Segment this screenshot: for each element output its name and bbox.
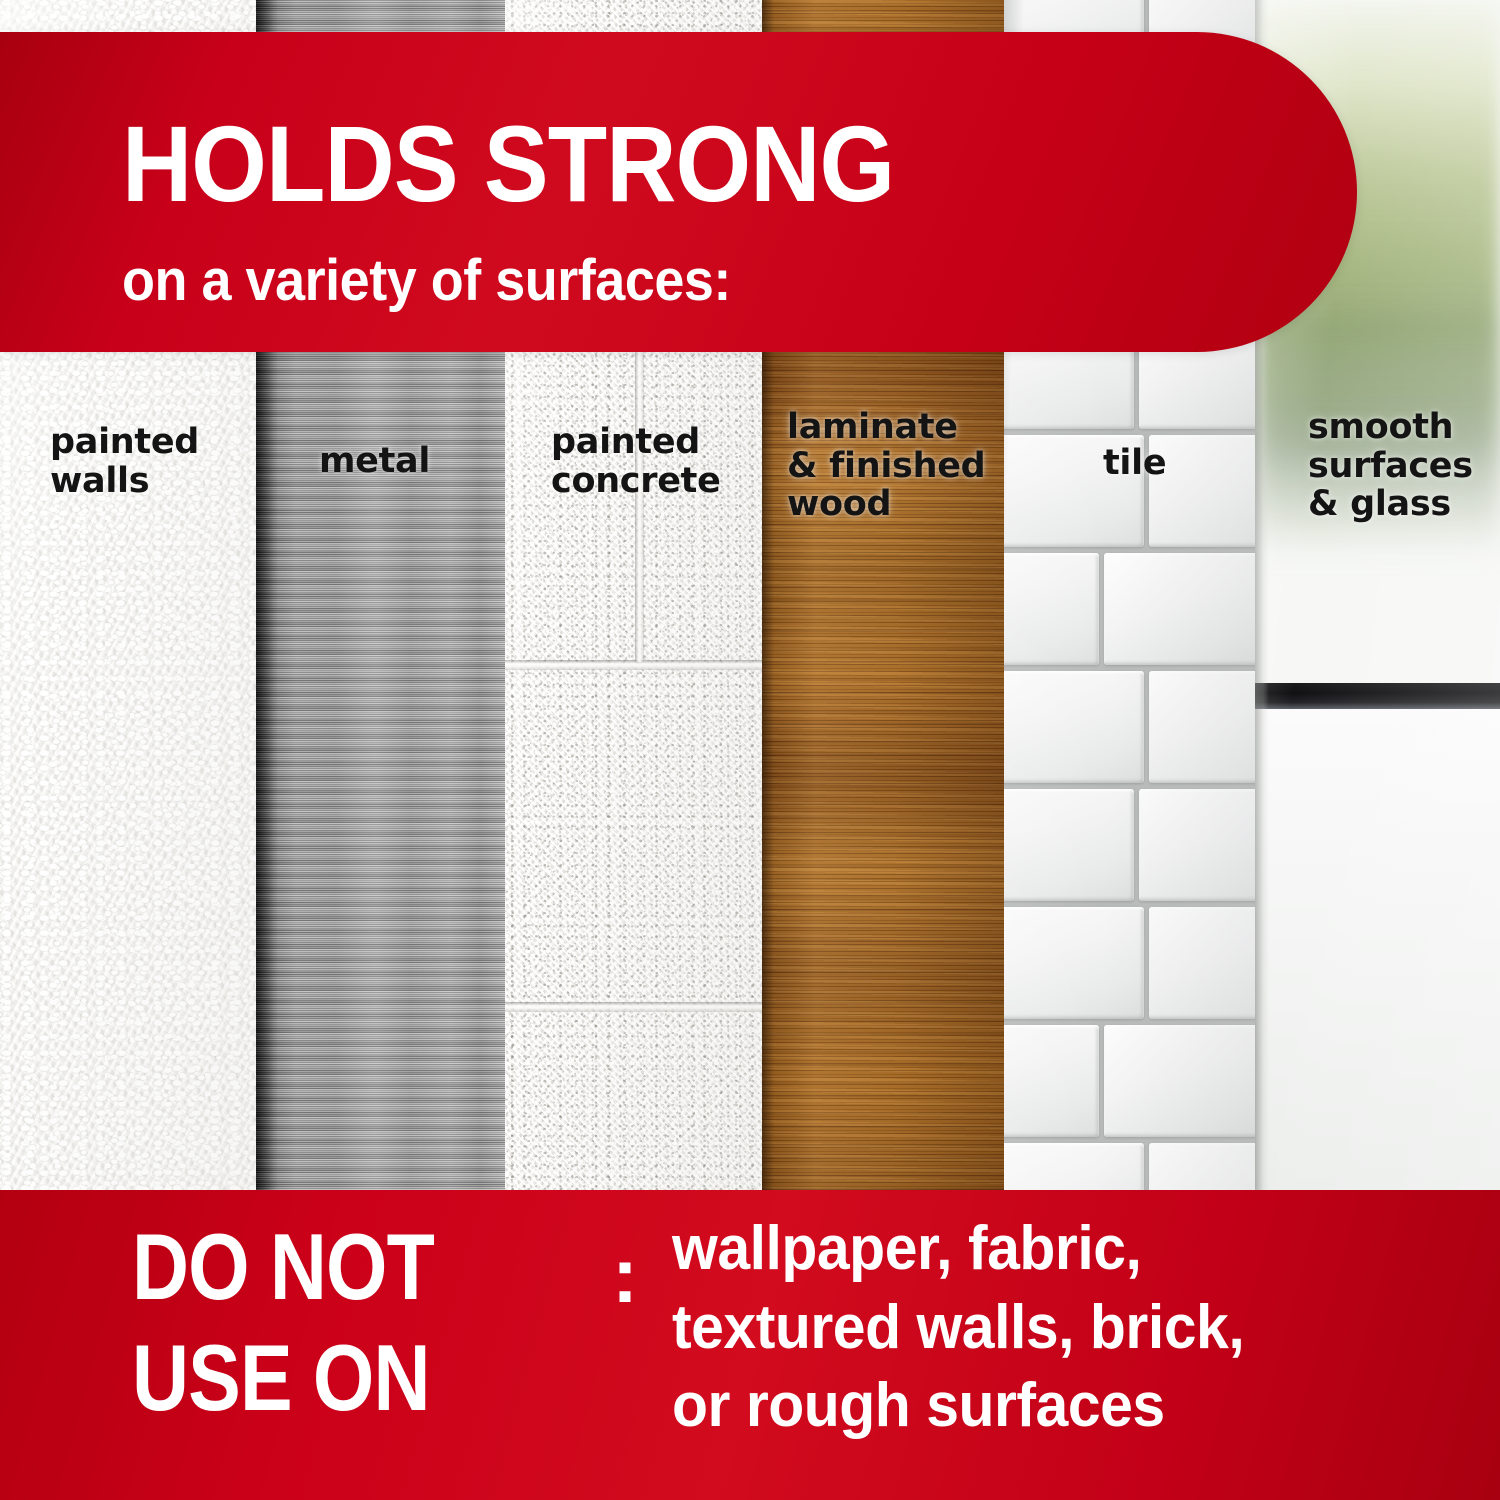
do-not-use-list: wallpaper, fabric, textured walls, brick… [672, 1210, 1244, 1446]
surface-label-metal: metal [319, 442, 430, 481]
subheadline-text: on a variety of surfaces: [122, 252, 731, 310]
surface-label-painted-walls: painted walls [50, 423, 199, 500]
do-not-use-label: DO NOT USE ON [132, 1212, 434, 1434]
surface-label-painted-concrete: painted concrete [551, 423, 721, 500]
surface-compatibility-infographic: painted walls metal painted concrete lam… [0, 0, 1500, 1500]
do-not-use-colon: : [612, 1236, 638, 1314]
surface-label-smooth-glass: smooth surfaces & glass [1308, 408, 1473, 524]
do-not-use-banner: DO NOT USE ON : wallpaper, fabric, textu… [0, 1190, 1500, 1500]
holds-strong-banner: HOLDS STRONG on a variety of surfaces: [0, 32, 1357, 352]
headline-text: HOLDS STRONG [122, 110, 894, 218]
surface-label-tile: tile [1103, 444, 1166, 483]
surface-label-laminate-wood: laminate & finished wood [787, 408, 985, 524]
